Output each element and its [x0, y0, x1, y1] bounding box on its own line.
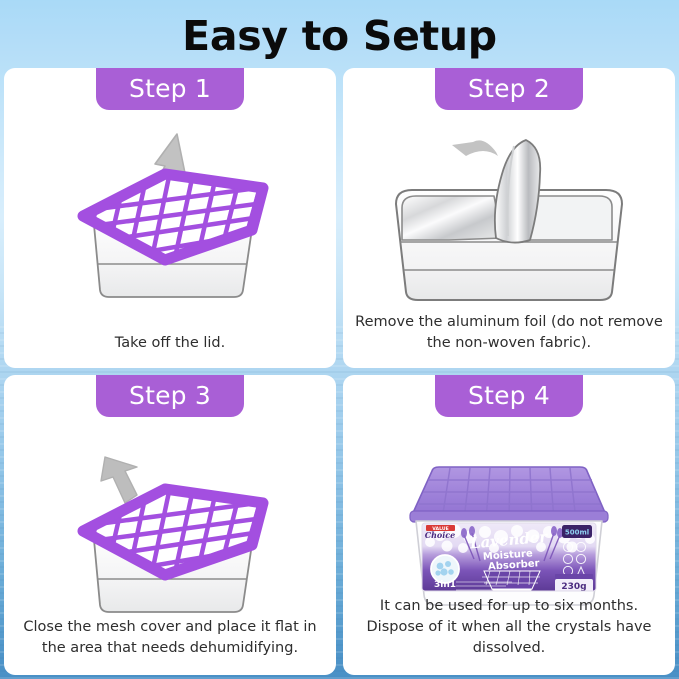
arrow-down-right-icon — [101, 457, 137, 503]
step-badge-1: Step 1 — [96, 68, 244, 110]
step-illustration-1 — [4, 112, 336, 327]
product-lid — [410, 467, 608, 522]
step-caption-3: Close the mesh cover and place it flat i… — [16, 617, 324, 659]
step-badge-3: Step 3 — [96, 375, 244, 417]
step-badge-2: Step 2 — [435, 68, 583, 110]
step-card-3: Step 3 — [4, 375, 336, 675]
step-caption-4: It can be used for up to six months. Dis… — [355, 596, 663, 659]
step-illustration-2 — [343, 112, 675, 327]
page-title: Easy to Setup — [0, 8, 679, 64]
arrow-up-left-curved-icon — [452, 140, 498, 156]
poster-root: Easy to Setup Step 1 — [0, 0, 679, 679]
step-caption-2: Remove the aluminum foil (do not remove … — [355, 312, 663, 354]
brand-name: Choice — [425, 530, 456, 540]
step-card-2: Step 2 — [343, 68, 675, 368]
steps-grid: Step 1 — [4, 68, 675, 675]
step-caption-1: Take off the lid. — [16, 333, 324, 354]
step-illustration-3 — [4, 419, 336, 634]
product-label: Lavender Moisture Absorber — [422, 523, 596, 597]
feature-badge: 3in1 — [434, 580, 456, 590]
volume-badge: 500ml — [565, 529, 589, 537]
step-card-4: Step 4 — [343, 375, 675, 675]
step-card-1: Step 1 — [4, 68, 336, 368]
step-badge-4: Step 4 — [435, 375, 583, 417]
